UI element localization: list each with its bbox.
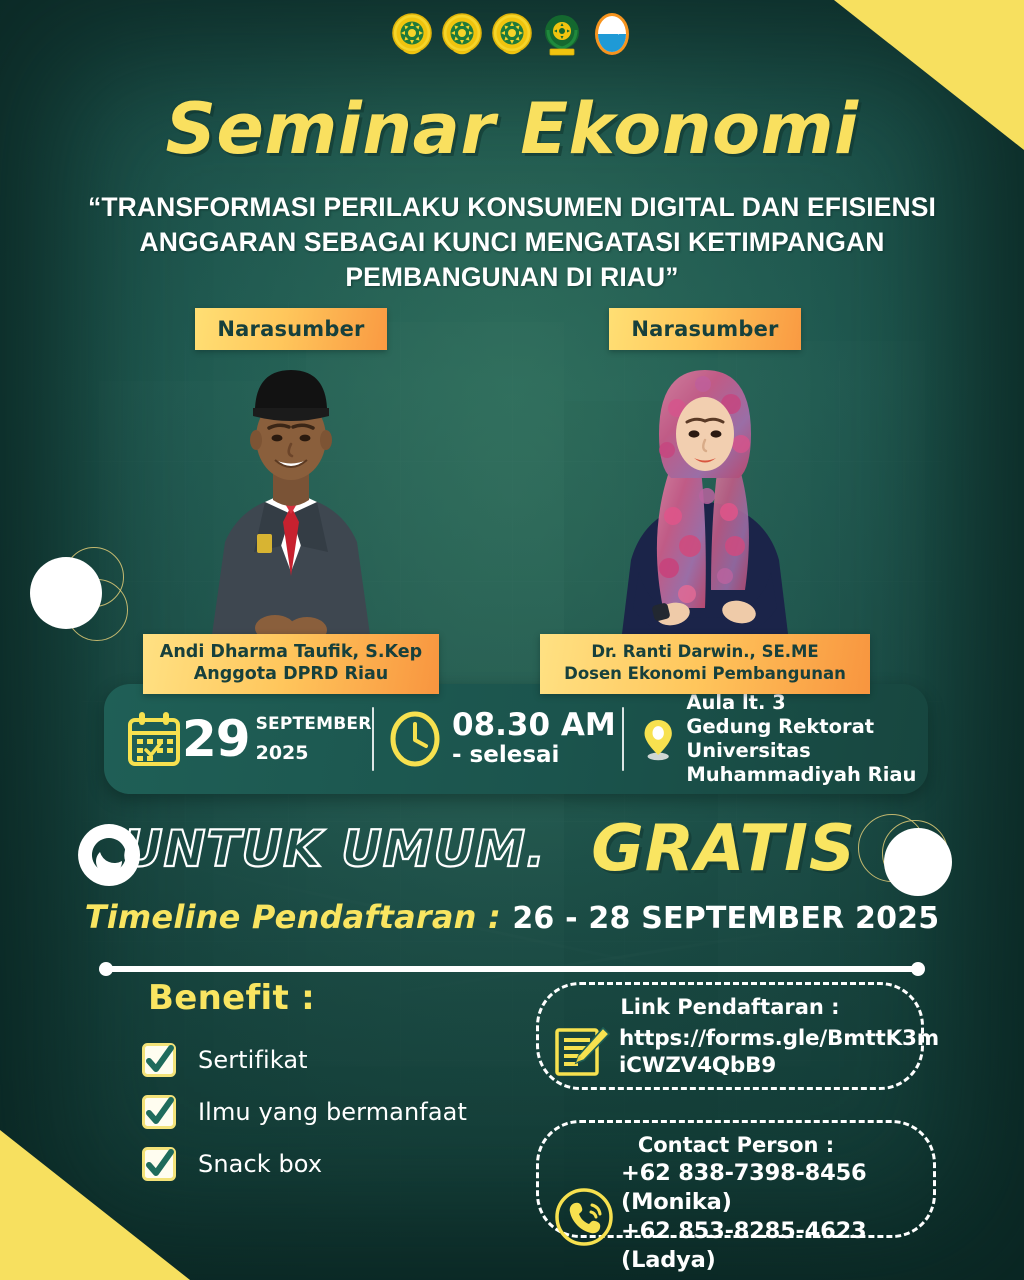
form-pencil-icon [553, 1024, 611, 1080]
poster-subtitle: “TRANSFORMASI PERILAKU KONSUMEN DIGITAL … [60, 190, 964, 295]
event-time-block: 08.30 AM - selesai [374, 684, 622, 794]
speaker-photo-female [555, 346, 855, 642]
poster-title: Seminar Ekonomi [0, 88, 1024, 170]
subtitle-line-1: “TRANSFORMASI PERILAKU KONSUMEN DIGITAL … [60, 190, 964, 225]
muhammadiyah-logo-3 [490, 10, 534, 58]
registration-link-box[interactable]: Link Pendaftaran : https://forms.gle/Bmt… [536, 982, 924, 1090]
speaker-name-plate-1: Andi Dharma Taufik, S.Kep Anggota DPRD R… [143, 634, 439, 694]
speaker-role-2: Dosen Ekonomi Pembangunan [544, 663, 866, 685]
decorative-circles-left [22, 545, 130, 649]
subtitle-line-2: ANGGARAN SEBAGAI KUNCI MENGATASI KETIMPA… [60, 225, 964, 260]
event-info-bar: 29 SEPTEMBER 2025 08.30 AM - selesai [104, 684, 928, 794]
benefit-list: Sertifikat Ilmu yang bermanfaat Snack bo… [142, 1034, 562, 1190]
kemahasiswaan-logo [590, 10, 634, 58]
event-day: 29 [182, 715, 250, 763]
benefit-item: Snack box [142, 1138, 562, 1190]
logo-strip [0, 10, 1024, 58]
event-month: SEPTEMBER [256, 715, 372, 734]
contact-phone-1[interactable]: +62 838-7398-8456 (Monika) [621, 1159, 919, 1217]
benefit-heading: Benefit : [148, 978, 315, 1018]
muhammadiyah-logo-1 [390, 10, 434, 58]
section-divider [106, 966, 918, 972]
speaker-name-2: Dr. Ranti Darwin., SE.ME [544, 641, 866, 663]
timeline-label: Timeline Pendaftaran : [85, 898, 513, 936]
timeline-date: 26 - 28 SEPTEMBER 2025 [512, 901, 939, 936]
event-year: 2025 [256, 742, 372, 764]
speaker-role-1: Anggota DPRD Riau [147, 663, 435, 685]
event-time-end: - selesai [452, 742, 616, 769]
location-line-2: Gedung Rektorat Universitas [686, 715, 928, 763]
location-line-1: Aula lt. 3 [686, 691, 928, 715]
clock-icon [388, 710, 442, 768]
location-line-3: Muhammadiyah Riau [686, 763, 928, 787]
speaker-card-1: Narasumber [126, 308, 456, 694]
registration-timeline: Timeline Pendaftaran : 26 - 28 SEPTEMBER… [0, 898, 1024, 936]
green-shield-logo [540, 10, 584, 58]
phone-call-icon [553, 1186, 615, 1248]
speaker-photo-male [141, 346, 441, 642]
benefit-label: Ilmu yang bermanfaat [198, 1098, 467, 1126]
registration-url[interactable]: https://forms.gle/BmttK3m iCWZV4QbB9 [619, 1025, 939, 1079]
event-date-block: 29 SEPTEMBER 2025 [104, 684, 372, 794]
check-box-icon [142, 1095, 176, 1129]
speaker-card-2: Narasumber [540, 308, 870, 694]
event-location-block: Aula lt. 3 Gedung Rektorat Universitas M… [624, 684, 928, 794]
speaker-name-plate-2: Dr. Ranti Darwin., SE.ME Dosen Ekonomi P… [540, 634, 870, 694]
benefit-item: Ilmu yang bermanfaat [142, 1086, 562, 1138]
benefit-item: Sertifikat [142, 1034, 562, 1086]
registration-url-line-2: iCWZV4QbB9 [619, 1052, 939, 1079]
check-box-icon [142, 1043, 176, 1077]
event-time-start: 08.30 AM [452, 709, 616, 742]
speaker-badge-1: Narasumber [195, 308, 387, 350]
registration-link-title: Link Pendaftaran : [553, 995, 907, 1020]
muhammadiyah-logo-2 [440, 10, 484, 58]
contact-person-title: Contact Person : [553, 1133, 919, 1158]
speaker-badge-2: Narasumber [609, 308, 801, 350]
info-divider-1 [372, 707, 374, 771]
contact-phone-2[interactable]: +62 853-8285-4623 (Ladya) [621, 1217, 919, 1275]
benefit-label: Sertifikat [198, 1046, 308, 1074]
calendar-icon [126, 710, 182, 768]
info-divider-2 [622, 707, 624, 771]
location-pin-icon [640, 708, 676, 770]
contact-person-box[interactable]: Contact Person : +62 838-7398-8456 (Moni… [536, 1120, 936, 1238]
registration-url-line-1: https://forms.gle/BmttK3m [619, 1025, 939, 1052]
check-box-icon [142, 1147, 176, 1181]
price-free-text: GRATIS [591, 812, 856, 886]
seminar-poster: Seminar Ekonomi “TRANSFORMASI PERILAKU K… [0, 0, 1024, 1280]
speaker-name-1: Andi Dharma Taufik, S.Kep [147, 641, 435, 663]
benefit-label: Snack box [198, 1150, 322, 1178]
subtitle-line-3: PEMBANGUNAN DI RIAU” [60, 260, 964, 295]
open-to-public-text: UNTUK UMUM. [122, 820, 546, 878]
contact-numbers: +62 838-7398-8456 (Monika) +62 853-8285-… [621, 1159, 919, 1275]
